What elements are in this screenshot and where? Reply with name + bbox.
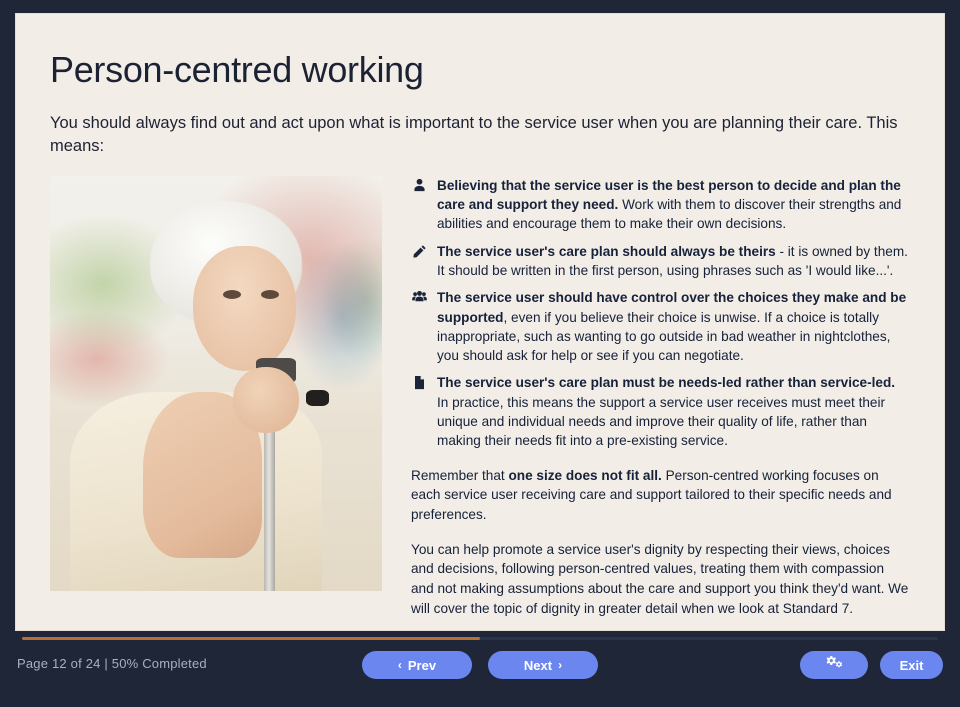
chevron-right-icon: ›: [558, 659, 562, 671]
users-icon: [411, 290, 428, 307]
next-button[interactable]: Next ›: [488, 651, 598, 679]
slide-body: Believing that the service user is the b…: [50, 176, 910, 619]
utility-controls: Exit: [800, 651, 943, 679]
settings-button[interactable]: [800, 651, 868, 679]
intro-paragraph: You should always find out and act upon …: [50, 112, 910, 158]
person-icon: [411, 178, 428, 195]
photo-face: [193, 246, 296, 371]
summary-lead: Remember that: [411, 468, 508, 483]
chevron-left-icon: ‹: [398, 659, 402, 671]
photo-wristband: [306, 390, 329, 407]
image-column: [50, 176, 382, 591]
exit-button[interactable]: Exit: [880, 651, 943, 679]
summary-bold: one size does not fit all.: [508, 468, 661, 483]
photo-hand: [233, 367, 299, 433]
slide-card: Person-centred working You should always…: [16, 14, 944, 630]
slide-viewer: Person-centred working You should always…: [0, 0, 960, 707]
photo-eye-right: [261, 290, 279, 299]
text-column: Believing that the service user is the b…: [382, 176, 910, 619]
cogs-icon: [826, 656, 843, 674]
prev-button[interactable]: ‹ Prev: [362, 651, 472, 679]
slide-content: Person-centred working You should always…: [16, 14, 944, 630]
list-item-rest: In practice, this means the support a se…: [437, 395, 885, 449]
course-progress-fill: [22, 637, 480, 640]
summary-paragraph: Remember that one size does not fit all.…: [411, 466, 910, 525]
file-icon: [411, 375, 428, 392]
next-button-label: Next: [524, 658, 552, 673]
list-item: The service user's care plan should alwa…: [411, 242, 910, 281]
list-item: Believing that the service user is the b…: [411, 176, 910, 234]
photo-eye-left: [223, 290, 241, 299]
course-progress-track: [22, 637, 938, 640]
footer-bar: Page 12 of 24 | 50% Completed ‹ Prev Nex…: [0, 645, 960, 707]
photo-frame: [50, 176, 382, 591]
list-item: The service user should have control ove…: [411, 288, 910, 365]
list-item-bold: The service user's care plan should alwa…: [437, 244, 776, 259]
elderly-woman-photo: [50, 176, 382, 591]
dignity-paragraph: You can help promote a service user's di…: [411, 540, 910, 619]
page-title: Person-centred working: [50, 50, 910, 90]
pencil-icon: [411, 244, 428, 261]
key-points-list: Believing that the service user is the b…: [411, 176, 910, 451]
prev-button-label: Prev: [408, 658, 436, 673]
list-item-bold: The service user's care plan must be nee…: [437, 375, 895, 390]
list-item: The service user's care plan must be nee…: [411, 373, 910, 450]
list-item-rest: , even if you believe their choice is un…: [437, 310, 890, 364]
exit-button-label: Exit: [900, 658, 924, 673]
